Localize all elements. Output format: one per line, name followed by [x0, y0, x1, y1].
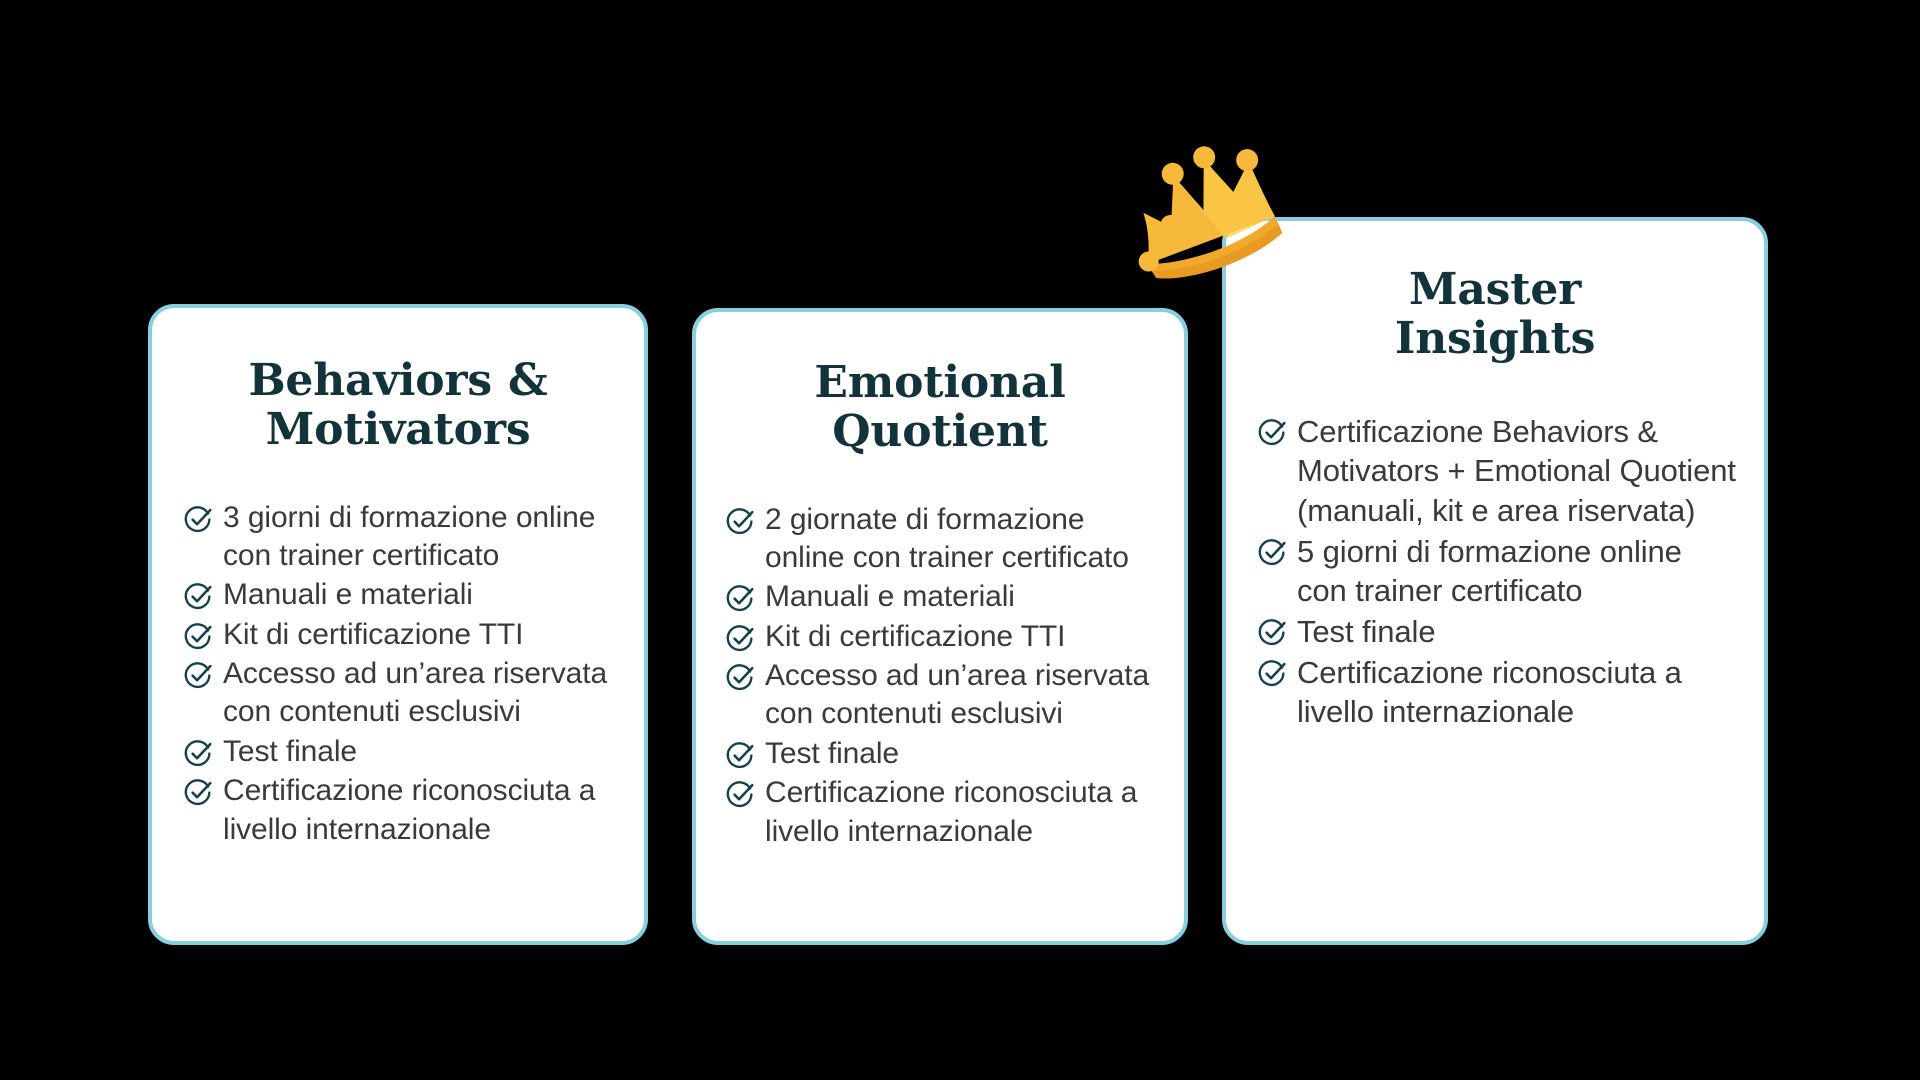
feature-item: 5 giorni di formazione online con traine…: [1258, 532, 1740, 611]
plan-feature-list: Certificazione Behaviors & Motivators + …: [1226, 412, 1764, 732]
plan-title: Behaviors & Motivators: [152, 308, 644, 455]
plan-title-line: Behaviors &: [248, 355, 547, 406]
plan-title: Emotional Quotient: [696, 312, 1184, 457]
feature-item: Kit di certificazione TTI: [726, 618, 1164, 656]
check-circle-icon: [726, 741, 755, 770]
plan-title-line: Insights: [1395, 313, 1595, 364]
feature-item: Manuali e materiali: [726, 578, 1164, 616]
check-circle-icon: [726, 780, 755, 809]
plan-title-line: Master: [1409, 264, 1581, 315]
feature-text: Manuali e materiali: [765, 578, 1015, 616]
check-circle-icon: [184, 622, 213, 651]
check-circle-icon: [1258, 418, 1287, 447]
check-circle-icon: [184, 739, 213, 768]
feature-item: Certificazione Behaviors & Motivators + …: [1258, 412, 1740, 531]
plan-card-emotional-quotient[interactable]: Emotional Quotient 2 giornate di formazi…: [692, 308, 1188, 945]
feature-item: Certificazione riconosciuta a livello in…: [726, 774, 1164, 851]
check-circle-icon: [1258, 538, 1287, 567]
feature-text: 3 giorni di formazione online con traine…: [223, 499, 622, 576]
feature-item: Test finale: [726, 735, 1164, 773]
check-circle-icon: [726, 584, 755, 613]
plan-feature-list: 2 giornate di formazione online con trai…: [696, 501, 1184, 852]
feature-text: 2 giornate di formazione online con trai…: [765, 501, 1164, 578]
check-circle-icon: [184, 661, 213, 690]
feature-text: Kit di certificazione TTI: [765, 618, 1065, 656]
feature-text: Accesso ad un’area riservata con contenu…: [223, 655, 622, 732]
feature-text: Test finale: [765, 735, 899, 773]
feature-text: Kit di certificazione TTI: [223, 616, 523, 654]
feature-item: Accesso ad un’area riservata con contenu…: [726, 657, 1164, 734]
plan-title-line: Motivators: [266, 404, 531, 455]
check-circle-icon: [726, 624, 755, 653]
feature-text: Test finale: [223, 733, 357, 771]
feature-item: Manuali e materiali: [184, 576, 622, 614]
feature-text: Certificazione riconosciuta a livello in…: [1297, 653, 1740, 732]
feature-item: 3 giorni di formazione online con traine…: [184, 499, 622, 576]
feature-text: Test finale: [1297, 612, 1435, 652]
check-circle-icon: [726, 507, 755, 536]
feature-item: Accesso ad un’area riservata con contenu…: [184, 655, 622, 732]
check-circle-icon: [1258, 618, 1287, 647]
feature-text: Manuali e materiali: [223, 576, 473, 614]
plan-feature-list: 3 giorni di formazione online con traine…: [152, 499, 644, 850]
feature-item: 2 giornate di formazione online con trai…: [726, 501, 1164, 578]
check-circle-icon: [184, 582, 213, 611]
check-circle-icon: [726, 663, 755, 692]
plan-title: Master Insights: [1226, 221, 1764, 364]
feature-item: Test finale: [184, 733, 622, 771]
feature-item: Certificazione riconosciuta a livello in…: [1258, 653, 1740, 732]
feature-item: Test finale: [1258, 612, 1740, 652]
feature-text: Certificazione Behaviors & Motivators + …: [1297, 412, 1740, 531]
plan-card-behaviors-motivators[interactable]: Behaviors & Motivators 3 giorni di forma…: [148, 304, 648, 945]
feature-text: Certificazione riconosciuta a livello in…: [223, 772, 622, 849]
feature-item: Certificazione riconosciuta a livello in…: [184, 772, 622, 849]
check-circle-icon: [184, 778, 213, 807]
plan-card-master-insights[interactable]: Master Insights Certificazione Behaviors…: [1222, 217, 1768, 945]
plan-title-line: Quotient: [832, 406, 1047, 457]
check-circle-icon: [1258, 659, 1287, 688]
plan-title-line: Emotional: [814, 357, 1065, 408]
check-circle-icon: [184, 505, 213, 534]
feature-text: Certificazione riconosciuta a livello in…: [765, 774, 1164, 851]
feature-text: Accesso ad un’area riservata con contenu…: [765, 657, 1164, 734]
pricing-cards-canvas: Behaviors & Motivators 3 giorni di forma…: [0, 0, 1920, 1080]
feature-text: 5 giorni di formazione online con traine…: [1297, 532, 1740, 611]
feature-item: Kit di certificazione TTI: [184, 616, 622, 654]
